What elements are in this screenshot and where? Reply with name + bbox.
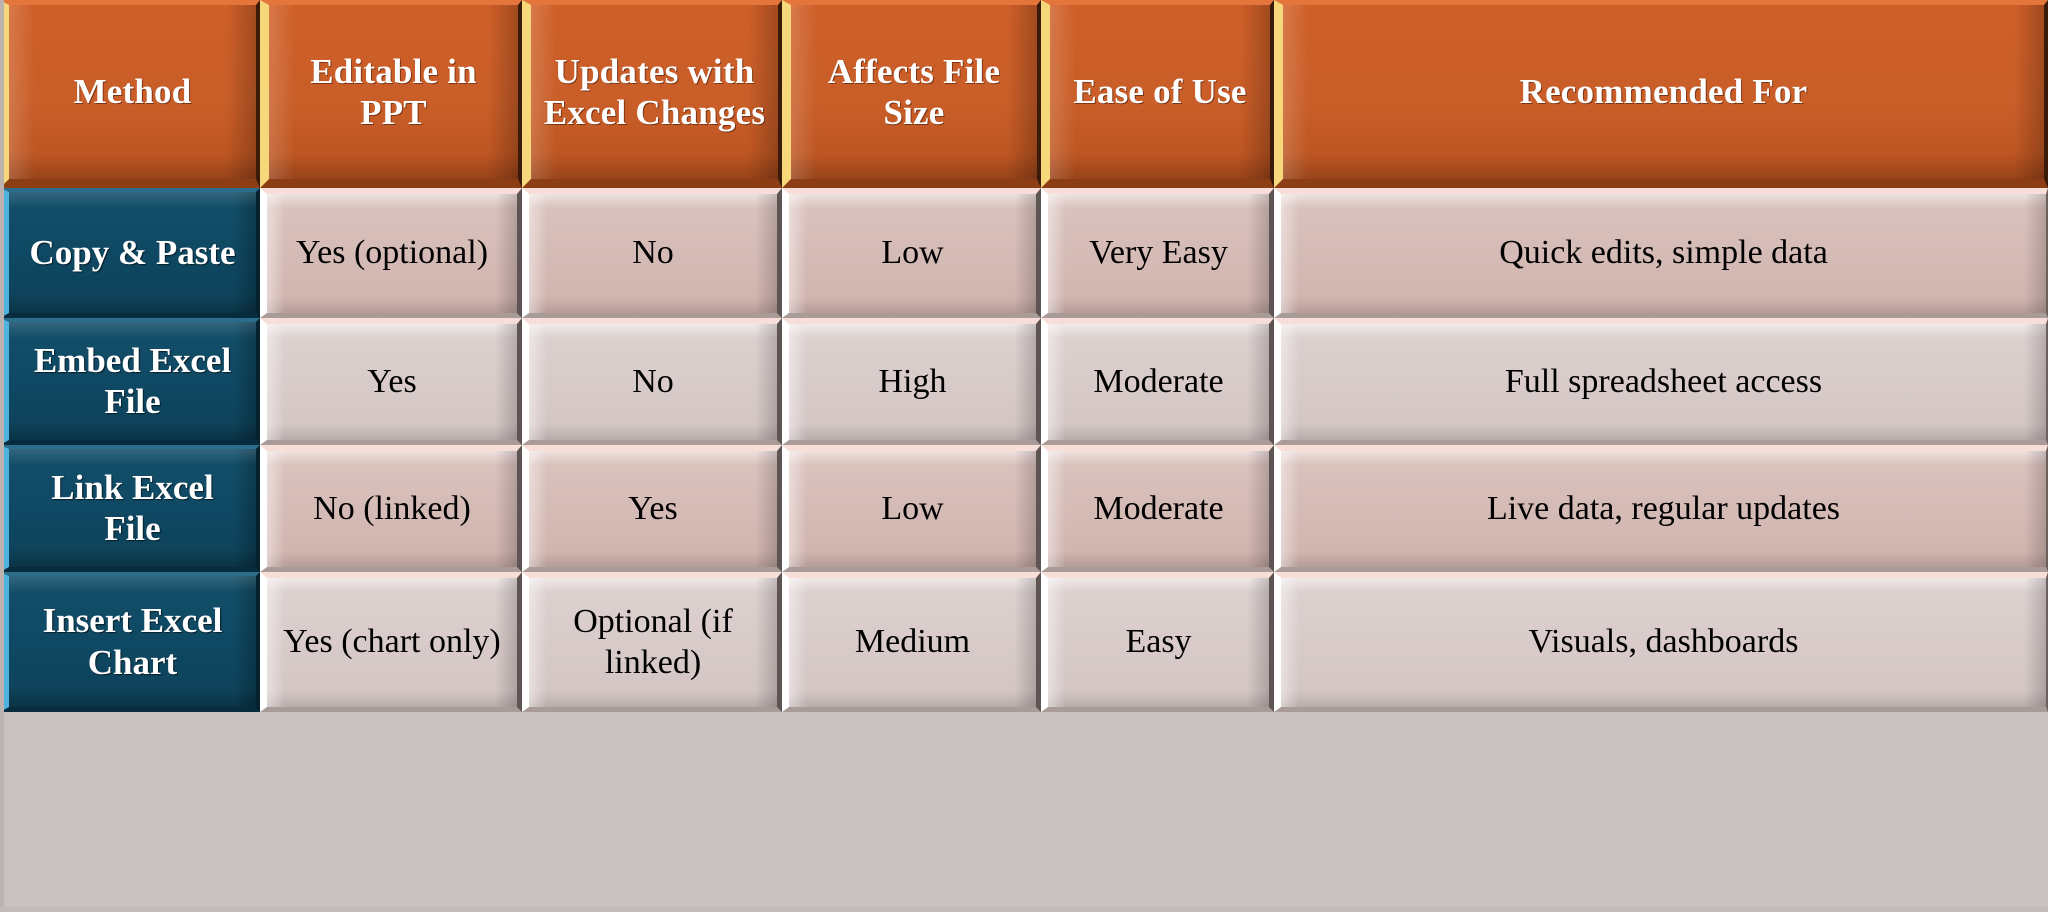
cell-affects-file-size: Medium <box>845 622 980 662</box>
table-row: Link Excel File <box>0 445 260 572</box>
cell-ease-of-use: Moderate <box>1083 489 1233 529</box>
table-cell-editable-in-ppt: Yes <box>260 318 522 445</box>
table-cell-affects-file-size: High <box>782 318 1041 445</box>
cell-editable-in-ppt: Yes (optional) <box>286 233 498 273</box>
table-cell-ease-of-use: Moderate <box>1041 318 1274 445</box>
cell-ease-of-use: Easy <box>1115 622 1201 662</box>
cell-updates-with-excel-changes: No <box>622 233 684 273</box>
table-row: Copy & Paste <box>0 188 260 318</box>
cell-affects-file-size: High <box>869 362 957 402</box>
cell-ease-of-use: Very Easy <box>1079 233 1238 273</box>
cell-editable-in-ppt: No (linked) <box>303 489 481 529</box>
column-header-recommended-for-label: Recommended For <box>1510 71 1818 112</box>
cell-affects-file-size: Low <box>871 233 953 273</box>
cell-recommended-for: Full spreadsheet access <box>1495 362 1832 402</box>
cell-recommended-for: Live data, regular updates <box>1477 489 1850 529</box>
table-cell-updates-with-excel-changes: Optional (if linked) <box>522 572 782 712</box>
table-row: Insert Excel Chart <box>0 572 260 712</box>
cell-ease-of-use: Moderate <box>1083 362 1233 402</box>
cell-method: Insert Excel Chart <box>9 600 256 683</box>
cell-updates-with-excel-changes: Optional (if linked) <box>529 602 777 682</box>
column-header-method-label: Method <box>64 71 202 112</box>
table-cell-recommended-for: Live data, regular updates <box>1274 445 2048 572</box>
cell-method: Copy & Paste <box>19 232 245 273</box>
cell-method: Link Excel File <box>9 467 256 550</box>
table-cell-editable-in-ppt: Yes (optional) <box>260 188 522 318</box>
table-cell-affects-file-size: Medium <box>782 572 1041 712</box>
column-header-affects-file-size: Affects File Size <box>782 0 1041 188</box>
table-cell-editable-in-ppt: No (linked) <box>260 445 522 572</box>
table-cell-ease-of-use: Easy <box>1041 572 1274 712</box>
table-cell-affects-file-size: Low <box>782 188 1041 318</box>
table-cell-recommended-for: Quick edits, simple data <box>1274 188 2048 318</box>
table-grid: Method Editable in PPT Updates with Exce… <box>0 0 2048 912</box>
column-header-editable-in-ppt: Editable in PPT <box>260 0 522 188</box>
cell-editable-in-ppt: Yes <box>357 362 426 402</box>
cell-updates-with-excel-changes: No <box>622 362 684 402</box>
cell-updates-with-excel-changes: Yes <box>618 489 687 529</box>
table-cell-updates-with-excel-changes: No <box>522 188 782 318</box>
cell-affects-file-size: Low <box>871 489 953 529</box>
column-header-affects-file-size-label: Affects File Size <box>791 51 1037 134</box>
table-row: Embed Excel File <box>0 318 260 445</box>
cell-method: Embed Excel File <box>9 340 256 423</box>
table-cell-recommended-for: Full spreadsheet access <box>1274 318 2048 445</box>
column-header-updates-with-excel-changes-label: Updates with Excel Changes <box>531 51 778 134</box>
table-cell-updates-with-excel-changes: Yes <box>522 445 782 572</box>
table-cell-updates-with-excel-changes: No <box>522 318 782 445</box>
table-cell-affects-file-size: Low <box>782 445 1041 572</box>
cell-recommended-for: Quick edits, simple data <box>1489 233 1838 273</box>
table-cell-ease-of-use: Moderate <box>1041 445 1274 572</box>
cell-recommended-for: Visuals, dashboards <box>1519 622 1809 662</box>
column-header-method: Method <box>0 0 260 188</box>
table-cell-recommended-for: Visuals, dashboards <box>1274 572 2048 712</box>
column-header-updates-with-excel-changes: Updates with Excel Changes <box>522 0 782 188</box>
table-cell-editable-in-ppt: Yes (chart only) <box>260 572 522 712</box>
cell-editable-in-ppt: Yes (chart only) <box>273 622 511 662</box>
column-header-editable-in-ppt-label: Editable in PPT <box>269 51 518 134</box>
column-header-ease-of-use: Ease of Use <box>1041 0 1274 188</box>
comparison-table: Method Editable in PPT Updates with Exce… <box>0 0 2048 912</box>
column-header-ease-of-use-label: Ease of Use <box>1063 71 1256 112</box>
table-cell-ease-of-use: Very Easy <box>1041 188 1274 318</box>
column-header-recommended-for: Recommended For <box>1274 0 2048 188</box>
